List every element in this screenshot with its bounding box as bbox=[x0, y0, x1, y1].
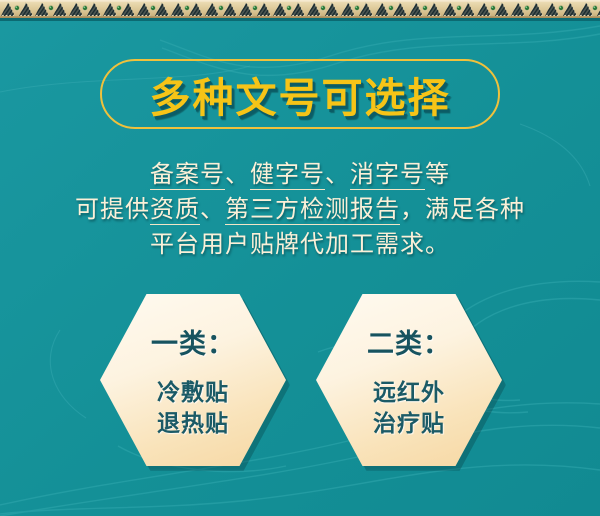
hexagon-item: 退热贴 bbox=[157, 408, 229, 439]
hexagon-title-category-1: 一类： bbox=[151, 322, 235, 361]
subtitle-keyword-jianzi: 健字号 bbox=[250, 160, 325, 190]
subtitle-line-1: 备案号、健字号、消字号等 bbox=[0, 157, 600, 192]
subtitle-keyword-beian: 备案号 bbox=[150, 160, 225, 190]
promo-poster: 多种文号可选择 备案号、健字号、消字号等 可提供资质、第三方检测报告，满足各种 … bbox=[0, 0, 600, 516]
subtitle-line-2-tail: ，满足各种 bbox=[400, 195, 525, 223]
subtitle-sep-3: 、 bbox=[200, 195, 225, 223]
subtitle-sep-1: 、 bbox=[225, 160, 250, 188]
hexagon-item: 远红外 bbox=[373, 377, 445, 408]
hexagon-item: 冷敷贴 bbox=[157, 377, 229, 408]
subtitle-line-1-tail: 等 bbox=[425, 160, 450, 188]
border-divider-rule bbox=[0, 18, 600, 21]
subtitle-line-2-head: 可提供 bbox=[75, 195, 150, 223]
ornamental-top-border bbox=[0, 0, 600, 18]
subtitle-block: 备案号、健字号、消字号等 可提供资质、第三方检测报告，满足各种 平台用户贴牌代加… bbox=[0, 157, 600, 262]
page-title: 多种文号可选择 bbox=[100, 59, 500, 129]
hexagon-title-category-2: 二类： bbox=[367, 322, 451, 361]
hexagon-items-category-1: 冷敷贴 退热贴 bbox=[157, 377, 229, 439]
subtitle-sep-2: 、 bbox=[325, 160, 350, 188]
subtitle-keyword-zizhi: 资质 bbox=[150, 195, 200, 225]
subtitle-line-2: 可提供资质、第三方检测报告，满足各种 bbox=[0, 192, 600, 227]
subtitle-keyword-third-party-report: 第三方检测报告 bbox=[225, 195, 400, 225]
subtitle-line-3: 平台用户贴牌代加工需求。 bbox=[0, 227, 600, 262]
hexagon-items-category-2: 远红外 治疗贴 bbox=[373, 377, 445, 439]
subtitle-keyword-xiaozi: 消字号 bbox=[350, 160, 425, 190]
hexagon-item: 治疗贴 bbox=[373, 408, 445, 439]
